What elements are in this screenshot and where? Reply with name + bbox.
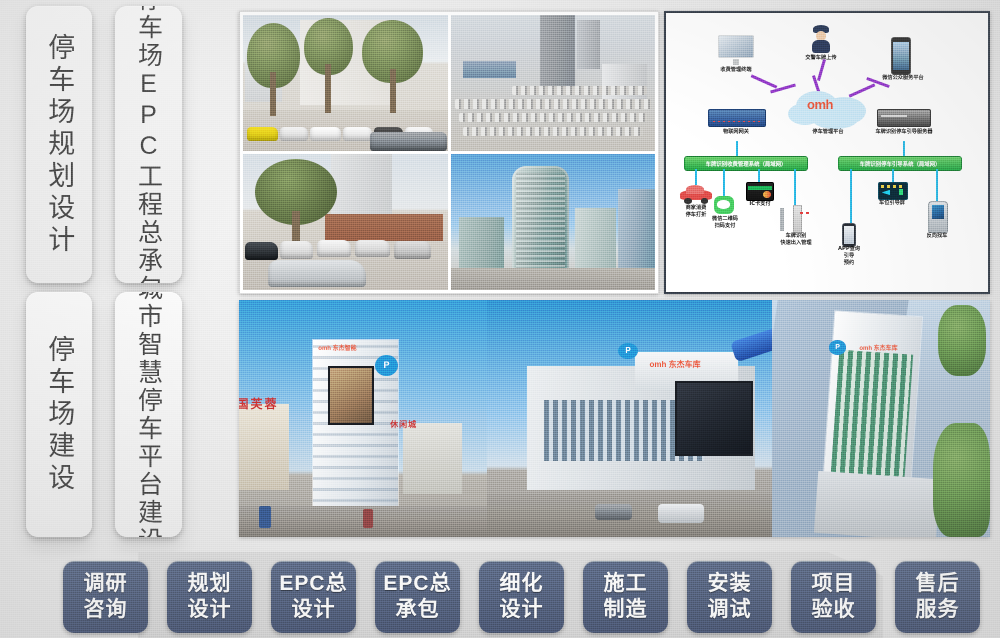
diagram-node-label-charge-terminal: 收费管理终端 <box>704 67 768 74</box>
rendering-blue-car <box>730 325 772 363</box>
process-step-survey-consult[interactable]: 调研 咨询 <box>63 561 148 633</box>
category-card-smart-city-platform[interactable]: 城市智慧停车平台建设 <box>115 292 182 537</box>
process-step-row: 调研 咨询 规划 设计 EPC总 设计 EPC总 承包 细化 设计 施工 制造 … <box>0 556 1000 638</box>
process-step-line1: 施工 <box>604 572 648 597</box>
network-router-icon <box>708 109 766 127</box>
rendering-sign-omh-b: omh 东杰车库 <box>649 359 700 370</box>
parking-p-icon: P <box>618 343 638 360</box>
diagram-node-label-guidance-server: 车牌识别停车引导服务器 <box>860 129 948 136</box>
rendering-sign-guofurong: 国芙蓉 <box>239 395 279 412</box>
poster-stage: 停车场规划设计 停车场EPC工程总承包 停车场建设 城市智慧停车平台建设 <box>0 0 1000 638</box>
diagram-node-label-wechat-platform: 微信公众服务平台 <box>868 75 938 82</box>
process-step-construction-manufacture[interactable]: 施工 制造 <box>583 561 668 633</box>
process-step-line1: 细化 <box>500 572 544 597</box>
process-step-planning-design[interactable]: 规划 设计 <box>167 561 252 633</box>
photo-aerial-parking-lot <box>451 15 656 151</box>
process-step-line2: 承包 <box>396 598 440 623</box>
process-step-line2: 设计 <box>292 598 336 623</box>
process-step-line2: 验收 <box>812 598 856 623</box>
category-card-label: 停车场EPC工程总承包 <box>133 6 165 283</box>
diagram-node-label-iot-gateway: 物联网网关 <box>704 129 768 136</box>
credit-card-icon <box>746 182 774 201</box>
category-card-parking-planning-design[interactable]: 停车场规划设计 <box>26 6 92 283</box>
parking-p-icon: P <box>375 355 397 376</box>
process-step-project-acceptance[interactable]: 项目 验收 <box>791 561 876 633</box>
desktop-monitor-icon <box>718 35 754 65</box>
process-step-line2: 设计 <box>500 598 544 623</box>
category-card-parking-construction[interactable]: 停车场建设 <box>26 292 92 537</box>
rendering-aerial-tower-garage: P omh 东杰车库 <box>772 300 990 537</box>
diagram-node-label-police-upload: 交警车牌上传 <box>787 55 855 62</box>
process-step-line2: 调试 <box>708 598 752 623</box>
photo-surface-lot-trees <box>243 15 448 151</box>
rendering-sign-omh-a: omh 东杰智能 <box>318 343 356 352</box>
category-card-label: 城市智慧停车平台建设 <box>133 292 165 537</box>
rendering-sign-omh-c: omh 东杰车库 <box>859 343 897 352</box>
diagram-leaf-label-wechat-qr-pay: 微信二维码 扫码支付 <box>700 216 750 230</box>
brand-logo-omh: omh <box>807 97 833 112</box>
diagram-leaf-label-guidance-screen: 车位引导屏 <box>870 200 914 207</box>
process-step-epc-contract[interactable]: EPC总 承包 <box>375 561 460 633</box>
process-step-after-sales[interactable]: 售后 服务 <box>895 561 980 633</box>
photo-collage-panel <box>239 11 659 294</box>
rendering-images-panel: P 国芙蓉 休闲城 omh 东杰智能 omh 东杰车库 P <box>239 300 990 537</box>
process-step-epc-design[interactable]: EPC总 设计 <box>271 561 356 633</box>
mobile-app-icon <box>842 223 856 247</box>
photo-glass-office-tower <box>451 154 656 290</box>
photo-brick-wall-lot <box>243 154 448 290</box>
rendering-multistory-garage: omh 东杰车库 P <box>487 300 772 537</box>
category-card-label: 停车场规划设计 <box>42 33 77 257</box>
parking-p-icon: P <box>829 340 846 354</box>
process-step-install-debug[interactable]: 安装 调试 <box>687 561 772 633</box>
process-step-line1: EPC总 <box>383 572 451 597</box>
diagram-leaf-label-lpr-fast-access: 车牌识别 快速出入管理 <box>770 233 822 247</box>
process-step-line1: EPC总 <box>279 572 347 597</box>
police-officer-icon <box>810 25 832 53</box>
system-bar-lpr-guidance: 车牌识别停车引导系统（局域网） <box>838 156 962 171</box>
process-step-line1: 售后 <box>916 572 960 597</box>
diagram-cloud-label: 停车管理平台 <box>790 129 866 136</box>
rendering-sign-xiuxiancheng: 休闲城 <box>390 419 417 430</box>
wechat-icon <box>714 196 734 214</box>
rendering-tower-garage: P 国芙蓉 休闲城 omh 东杰智能 <box>239 300 487 537</box>
diagram-leaf-label-app-query: APP查询 引导 预约 <box>830 246 868 267</box>
led-sign-icon <box>878 182 908 200</box>
process-step-line1: 安装 <box>708 572 752 597</box>
process-step-line1: 规划 <box>188 572 232 597</box>
process-step-line1: 项目 <box>812 572 856 597</box>
kiosk-icon <box>928 201 948 233</box>
diagram-leaf-label-reverse-find-car: 反向找车 <box>918 233 956 240</box>
rack-server-icon <box>877 109 931 127</box>
system-bar-label: 车牌识别停车引导系统（局域网） <box>860 160 941 168</box>
process-step-line2: 制造 <box>604 598 648 623</box>
system-architecture-diagram-panel: 收费管理终端 交警车牌上传 微信公众服务平台 omh 停车管理平台 <box>664 11 990 294</box>
process-step-detail-design[interactable]: 细化 设计 <box>479 561 564 633</box>
red-car-icon <box>680 184 712 204</box>
process-step-line1: 调研 <box>84 572 128 597</box>
process-step-line2: 咨询 <box>84 598 128 623</box>
smartphone-icon <box>891 37 911 75</box>
system-bar-label: 车牌识别收费管理系统（局域网） <box>706 160 787 168</box>
barrier-gate-icon <box>780 205 810 231</box>
diagram-leaf-label-ic-card-pay: IC卡支付 <box>744 201 776 208</box>
category-card-label: 停车场建设 <box>42 335 77 495</box>
process-step-line2: 设计 <box>188 598 232 623</box>
process-step-line2: 服务 <box>916 598 960 623</box>
system-bar-lpr-charge: 车牌识别收费管理系统（局域网） <box>684 156 808 171</box>
category-card-parking-epc-contract[interactable]: 停车场EPC工程总承包 <box>115 6 182 283</box>
